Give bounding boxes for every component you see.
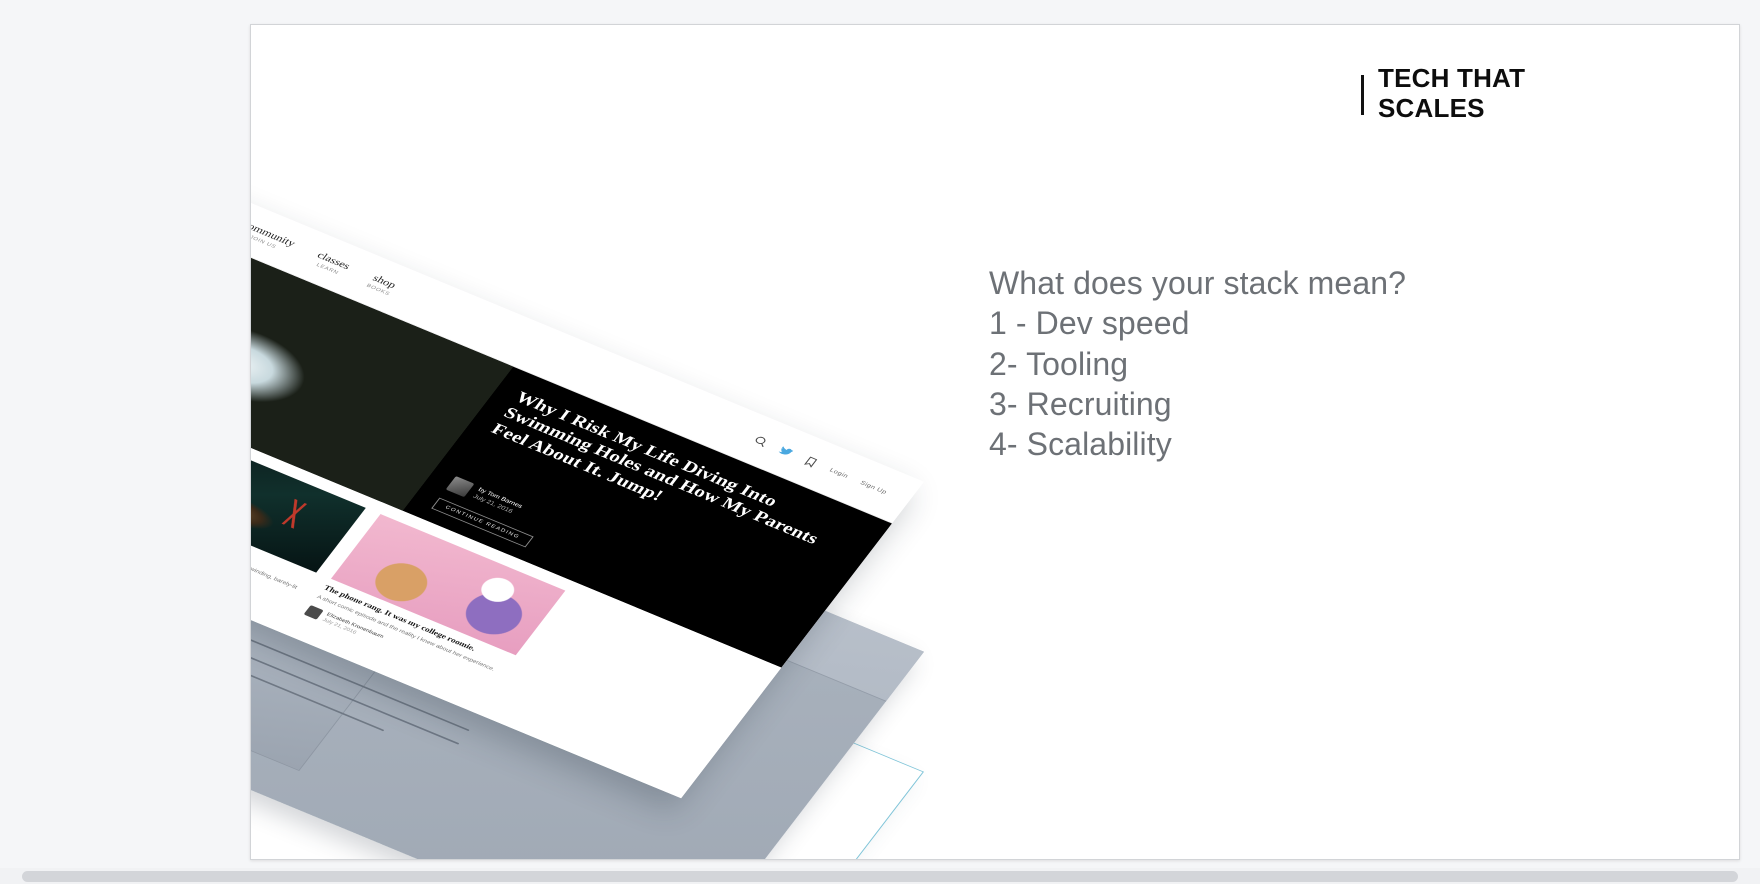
page-login-link[interactable]: Login — [828, 467, 849, 479]
horizontal-scrollbar-thumb[interactable] — [22, 871, 1738, 882]
avatar — [446, 476, 475, 497]
kicker-label: TECH THAT SCALES — [1378, 63, 1608, 123]
page-signup-link[interactable]: Sign Up — [859, 480, 888, 495]
search-icon[interactable] — [752, 434, 771, 448]
body-line-1: 1 - Dev speed — [989, 303, 1406, 343]
slide-body-copy: What does your stack mean? 1 - Dev speed… — [989, 263, 1406, 465]
page-nav-item-classes[interactable]: classes LEARN — [310, 249, 353, 277]
slide-kicker: TECH THAT SCALES — [1361, 63, 1608, 123]
app-viewport: CATAPULT PEOPLE PLACES SHOP by Tom Barne… — [0, 0, 1760, 884]
layered-mockup-graphic: CATAPULT PEOPLE PLACES SHOP by Tom Barne… — [250, 24, 961, 815]
bookmark-icon[interactable] — [802, 455, 821, 469]
slide-canvas: CATAPULT PEOPLE PLACES SHOP by Tom Barne… — [250, 24, 1740, 860]
page-nav-item-community[interactable]: community JOIN US — [250, 218, 298, 254]
kicker-accent-bar — [1361, 75, 1364, 115]
twitter-bird-icon[interactable] — [777, 445, 796, 459]
avatar — [304, 605, 324, 620]
body-line-4: 4- Scalability — [989, 424, 1406, 464]
body-line-3: 3- Recruiting — [989, 384, 1406, 424]
body-line-0: What does your stack mean? — [989, 263, 1406, 303]
page-nav-item-shop[interactable]: shop BOOKS — [365, 272, 399, 297]
horizontal-scrollbar[interactable] — [0, 868, 1760, 884]
body-line-2: 2- Tooling — [989, 344, 1406, 384]
